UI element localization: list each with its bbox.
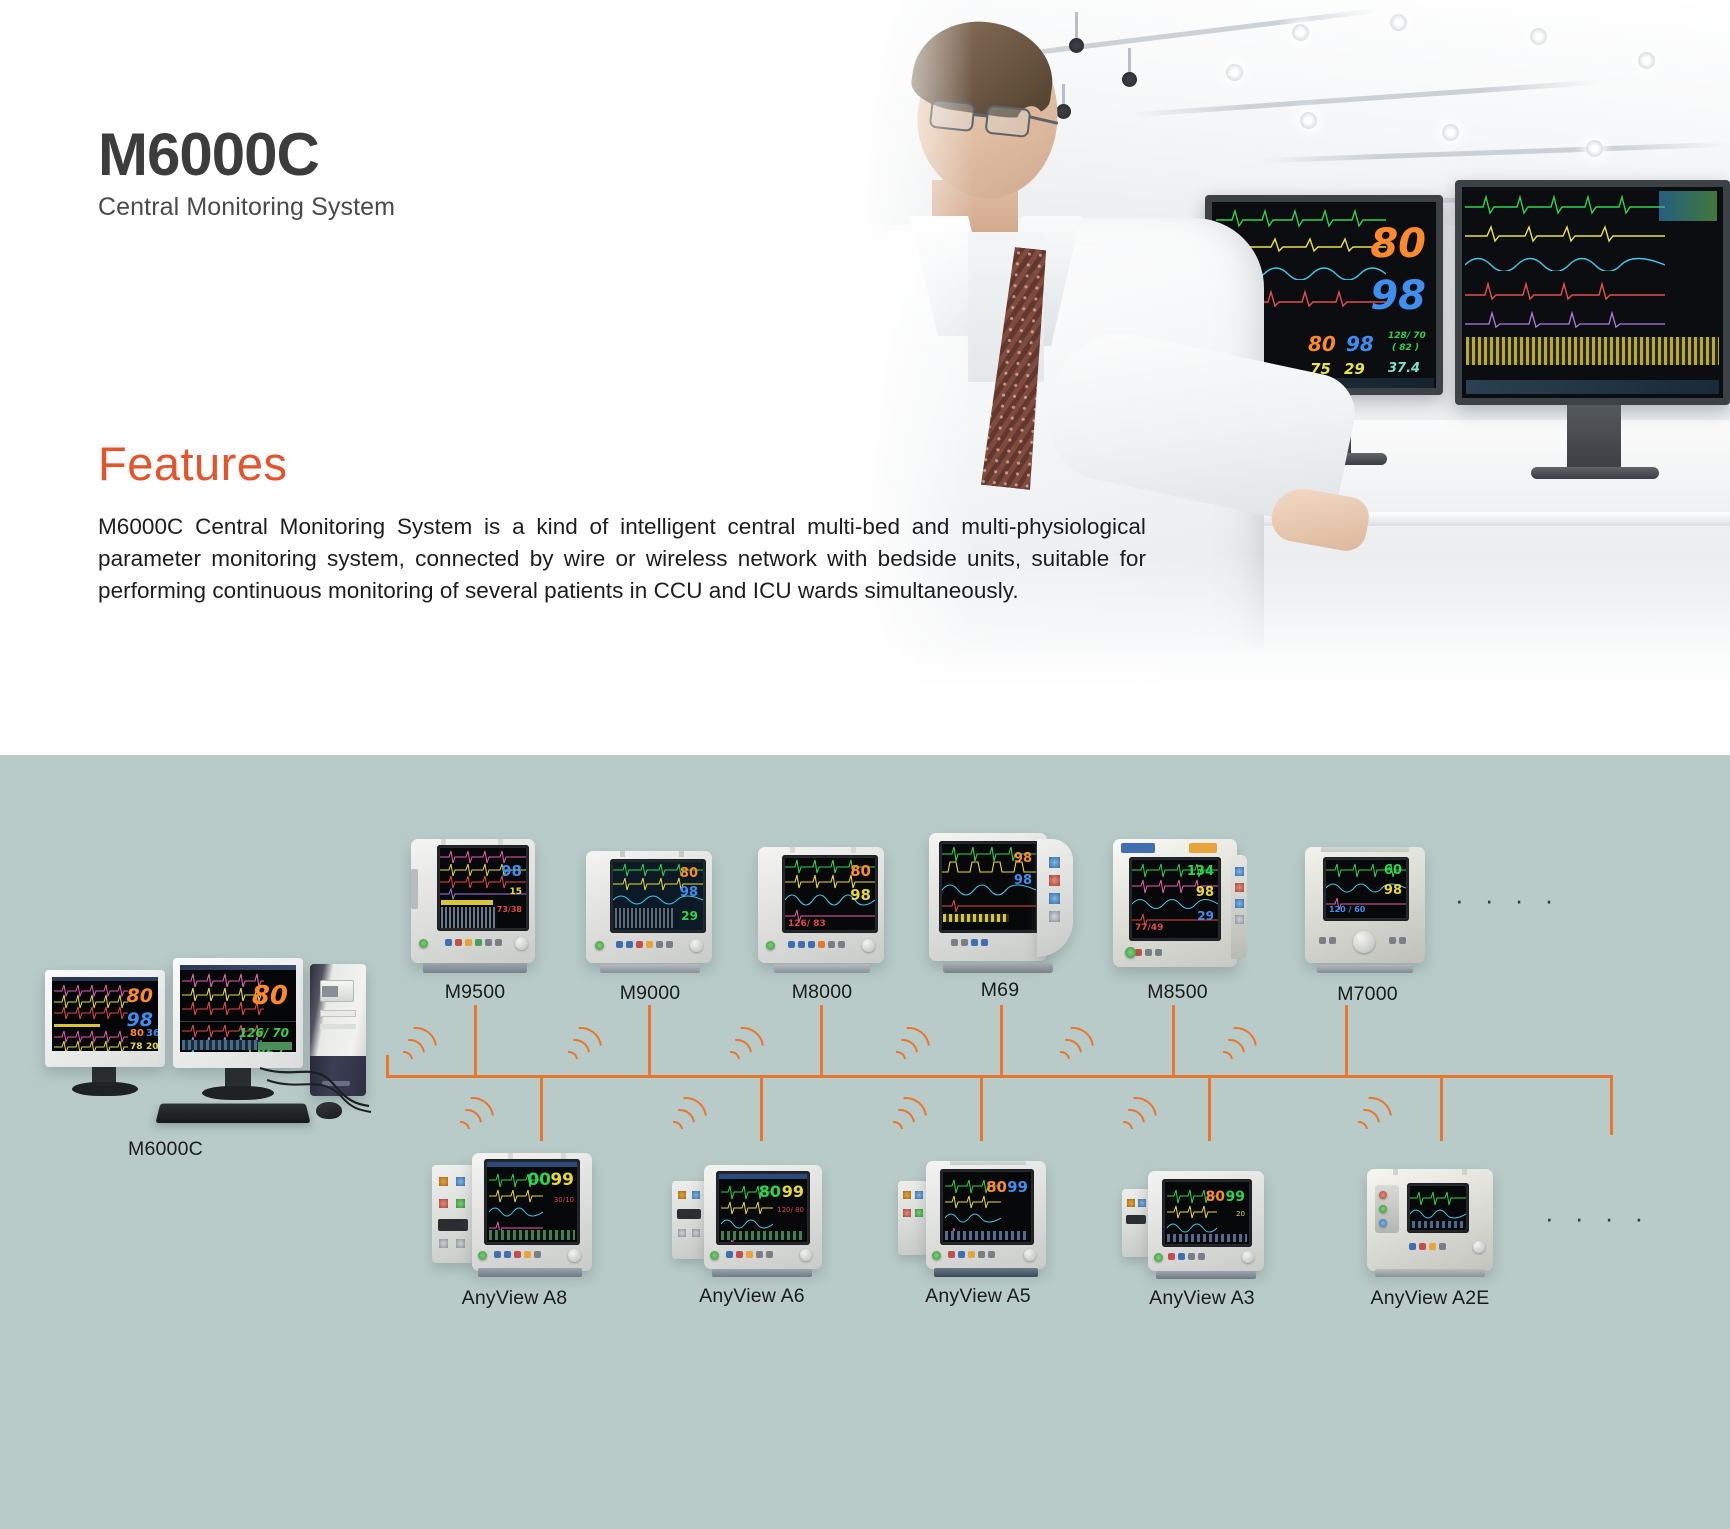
device-m9000-image: 80 98 29 (580, 837, 720, 973)
hero-section: 80 98 80 98 128/ 70 ( 82 ) 75 29 37.4 37… (0, 0, 1730, 838)
device-m9000: 80 98 29 M9000 (580, 837, 720, 1005)
device-m8500-label: M8500 (1105, 981, 1250, 1004)
bus-drop-a5 (980, 1075, 983, 1141)
m69-spo2: 98 (1014, 874, 1032, 887)
top-row-ellipsis: · · · · (1455, 885, 1560, 916)
bus-drop-m69 (1000, 1005, 1003, 1077)
central-left-pr: 78 (130, 1043, 143, 1051)
bus-drop-m8500 (1172, 1005, 1175, 1077)
photo-left-hr2: 80 (1308, 334, 1336, 354)
device-m69: 98 98 M69 (925, 825, 1075, 1002)
photo-left-spo2: 98 (1370, 276, 1426, 316)
m69-hr: 98 (1014, 852, 1032, 865)
device-anyview-a6-label: AnyView A6 (672, 1285, 832, 1308)
anyview-a5-hr: 80 (986, 1180, 1007, 1195)
device-m9500: 98 15 73/38 M9500 (405, 833, 545, 1004)
central-station-label: M6000C (128, 1138, 203, 1161)
central-monitor-left: 80 98 80 36 78 20 37.4 37.1 (45, 970, 165, 1067)
device-anyview-a3-label: AnyView A3 (1122, 1287, 1282, 1310)
m7000-nibp: 120 / 60 (1329, 906, 1365, 914)
device-m7000-image: 60 98 120 / 60 (1295, 841, 1440, 973)
anyview-a6-hr: 80 (759, 1184, 781, 1200)
bus-drop-a2e (1440, 1075, 1443, 1141)
central-left-hr: 80 (127, 987, 153, 1006)
bottom-row-ellipsis: · · · · (1545, 1203, 1650, 1234)
device-anyview-a2e: AnyView A2E (1345, 1153, 1515, 1310)
device-m9000-label: M9000 (580, 982, 720, 1005)
anyview-a3-spo2: 99 (1226, 1190, 1245, 1204)
m9000-rr: 29 (681, 910, 698, 922)
bus-drop-m9000 (648, 1005, 651, 1077)
device-anyview-a6: 80 99 120/ 80 AnyView A6 (672, 1163, 832, 1308)
central-station: 80 98 80 36 78 20 37.4 37.1 (40, 950, 370, 1180)
bus-drop-m8000 (820, 1005, 823, 1077)
wifi-icon-10 (1115, 1087, 1173, 1139)
central-left-temp: 37.4 (157, 1043, 158, 1051)
central-left-hr2: 80 (130, 1029, 144, 1039)
photo-left-nibp: 128/ 70 (1388, 332, 1426, 341)
anyview-a5-spo2: 99 (1007, 1180, 1028, 1195)
anyview-a6-spo2: 99 (782, 1184, 804, 1200)
m7000-spo2: 98 (1384, 884, 1402, 897)
m9500-nibp: 73/38 (497, 906, 522, 914)
bus-drop-m9500 (474, 1005, 477, 1077)
bus-drop-a8 (540, 1075, 543, 1141)
device-m9500-image: 98 15 73/38 (405, 833, 545, 973)
device-anyview-a2e-label: AnyView A2E (1345, 1287, 1515, 1310)
m9500-spo2: 98 (501, 864, 522, 879)
wifi-icon-6 (1215, 1017, 1273, 1069)
anyview-a8-hr: 00 (527, 1172, 551, 1189)
device-m8500-image: 134 98 29 77/49 (1105, 833, 1250, 975)
device-m7000-label: M7000 (1295, 983, 1440, 1006)
photo-left-hr: 80 (1370, 224, 1426, 264)
m8000-spo2: 98 (850, 888, 871, 903)
photo-left-rr: 29 (1344, 362, 1365, 377)
wifi-icon-1 (395, 1017, 453, 1069)
photo-monitor-right: ViewSonic (1455, 180, 1730, 405)
device-m69-label: M69 (925, 979, 1075, 1002)
m8500-spo2: 98 (1196, 886, 1214, 899)
bus-connect-station (386, 1055, 389, 1077)
m9500-val: 15 (509, 888, 522, 897)
central-right-screen: 80 126/ 70 ( 82 ) (180, 965, 296, 1052)
network-bus-main (386, 1075, 1612, 1078)
device-m69-image: 98 98 (925, 825, 1075, 975)
central-left-base (72, 1082, 138, 1096)
device-m8000: 80 98 126/ 83 M8000 (752, 835, 892, 1004)
wifi-icon-8 (665, 1087, 723, 1139)
device-anyview-a5-image: 80 99 (898, 1157, 1058, 1277)
m7000-hr: 60 (1384, 864, 1402, 877)
central-left-screen: 80 98 80 36 78 20 37.4 37.1 (52, 977, 158, 1051)
device-anyview-a8-image: 00 99 30/10 (432, 1147, 597, 1277)
anyview-a8-spo2: 99 (550, 1172, 574, 1189)
wifi-icon-7 (452, 1087, 510, 1139)
photo-left-spo2-2: 98 (1346, 334, 1374, 354)
device-anyview-a5: 80 99 AnyView A5 (898, 1157, 1058, 1308)
wifi-icon-2 (560, 1017, 618, 1069)
m9000-spo2: 98 (680, 886, 698, 899)
features-paragraph: M6000C Central Monitoring System is a ki… (98, 511, 1146, 607)
bus-riser-right (1610, 1075, 1613, 1135)
central-right-stand (225, 1068, 251, 1088)
device-m8000-label: M8000 (752, 981, 892, 1004)
m9000-hr: 80 (680, 867, 698, 880)
central-monitor-right: 80 126/ 70 ( 82 ) (173, 958, 303, 1068)
bus-drop-a3 (1208, 1075, 1211, 1141)
wifi-icon-3 (722, 1017, 780, 1069)
features-heading: Features (98, 440, 1148, 487)
page-title: M6000C (98, 125, 395, 185)
features-block: Features M6000C Central Monitoring Syste… (98, 440, 1148, 607)
m8000-hr: 80 (850, 864, 871, 879)
system-diagram: 80 98 80 36 78 20 37.4 37.1 (0, 755, 1730, 1529)
bus-drop-m7000 (1345, 1005, 1348, 1077)
page-subtitle: Central Monitoring System (98, 193, 395, 222)
bus-drop-a6 (760, 1075, 763, 1141)
device-anyview-a6-image: 80 99 120/ 80 (672, 1163, 832, 1277)
device-anyview-a3: 80 99 20 AnyView A3 (1122, 1167, 1282, 1310)
m8500-rr: 29 (1197, 910, 1214, 922)
central-right-nibp: 126/ 70 (239, 1027, 289, 1039)
m8500-nibp: 77/49 (1135, 924, 1163, 933)
m8500-hr: 134 (1187, 865, 1214, 878)
photo-left-temp: 37.4 (1388, 362, 1420, 375)
device-anyview-a2e-image (1345, 1153, 1515, 1277)
m8000-nibp: 126/ 83 (788, 920, 826, 929)
central-left-rr: 36 (146, 1029, 158, 1039)
device-m9500-label: M9500 (405, 981, 545, 1004)
photo-left-map: ( 82 ) (1392, 344, 1419, 353)
device-m8500: 134 98 29 77/49 M8500 (1105, 833, 1250, 1004)
device-m7000: 60 98 120 / 60 M7000 (1295, 841, 1440, 1006)
device-anyview-a8: 00 99 30/10 AnyView A8 (432, 1147, 597, 1310)
anyview-a3-hr: 80 (1206, 1190, 1225, 1204)
device-anyview-a5-label: AnyView A5 (898, 1285, 1058, 1308)
wifi-icon-5 (1052, 1017, 1110, 1069)
device-m8000-image: 80 98 126/ 83 (752, 835, 892, 973)
wifi-icon-9 (885, 1087, 943, 1139)
central-right-hr: 80 (252, 983, 288, 1009)
device-anyview-a8-label: AnyView A8 (432, 1287, 597, 1310)
device-anyview-a3-image: 80 99 20 (1122, 1167, 1282, 1279)
wifi-icon-11 (1350, 1087, 1408, 1139)
page-title-block: M6000C Central Monitoring System (98, 125, 395, 222)
wifi-icon-4 (888, 1017, 946, 1069)
